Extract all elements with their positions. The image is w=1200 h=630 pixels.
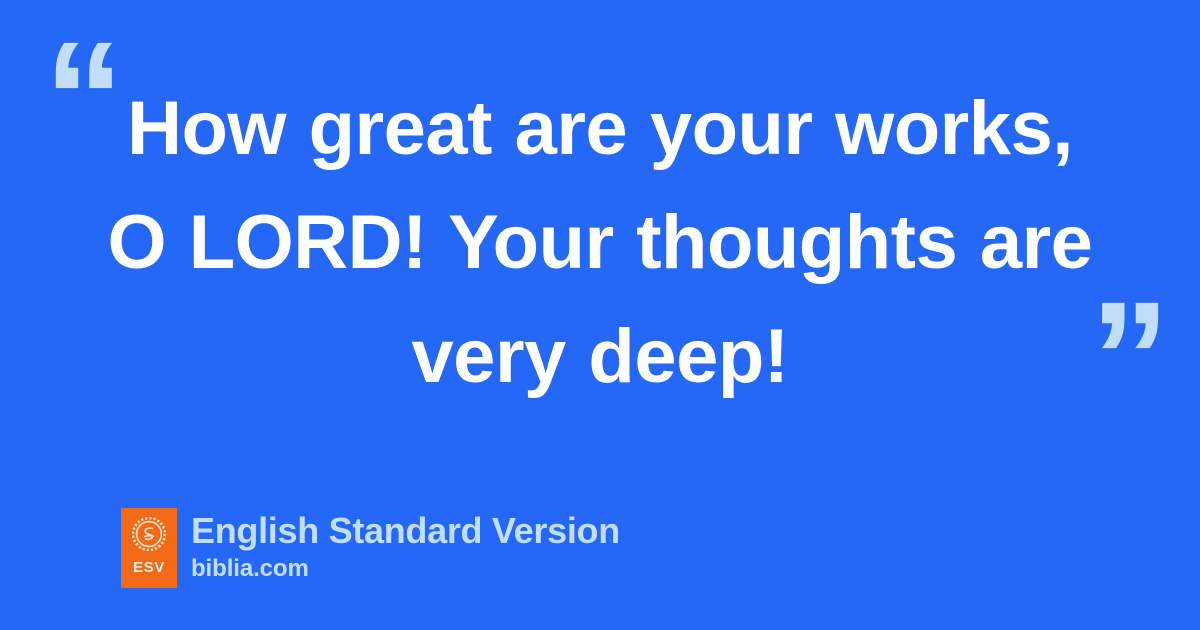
bible-verse-card: “ How great are your works, O LORD! Your… <box>0 0 1200 630</box>
esv-logo-tile[interactable]: ESV <box>121 508 177 588</box>
close-quote-icon: ” <box>1090 278 1166 438</box>
site-name-link[interactable]: biblia.com <box>191 554 620 584</box>
bible-version-name: English Standard Version <box>191 510 620 552</box>
attribution-text: English Standard Version biblia.com <box>191 508 620 588</box>
esv-logo-abbrev: ESV <box>133 560 165 575</box>
attribution-block[interactable]: ESV English Standard Version biblia.com <box>121 508 620 588</box>
verse-text: How great are your works, O LORD! Your t… <box>100 72 1100 414</box>
esv-seal-icon <box>132 517 166 551</box>
